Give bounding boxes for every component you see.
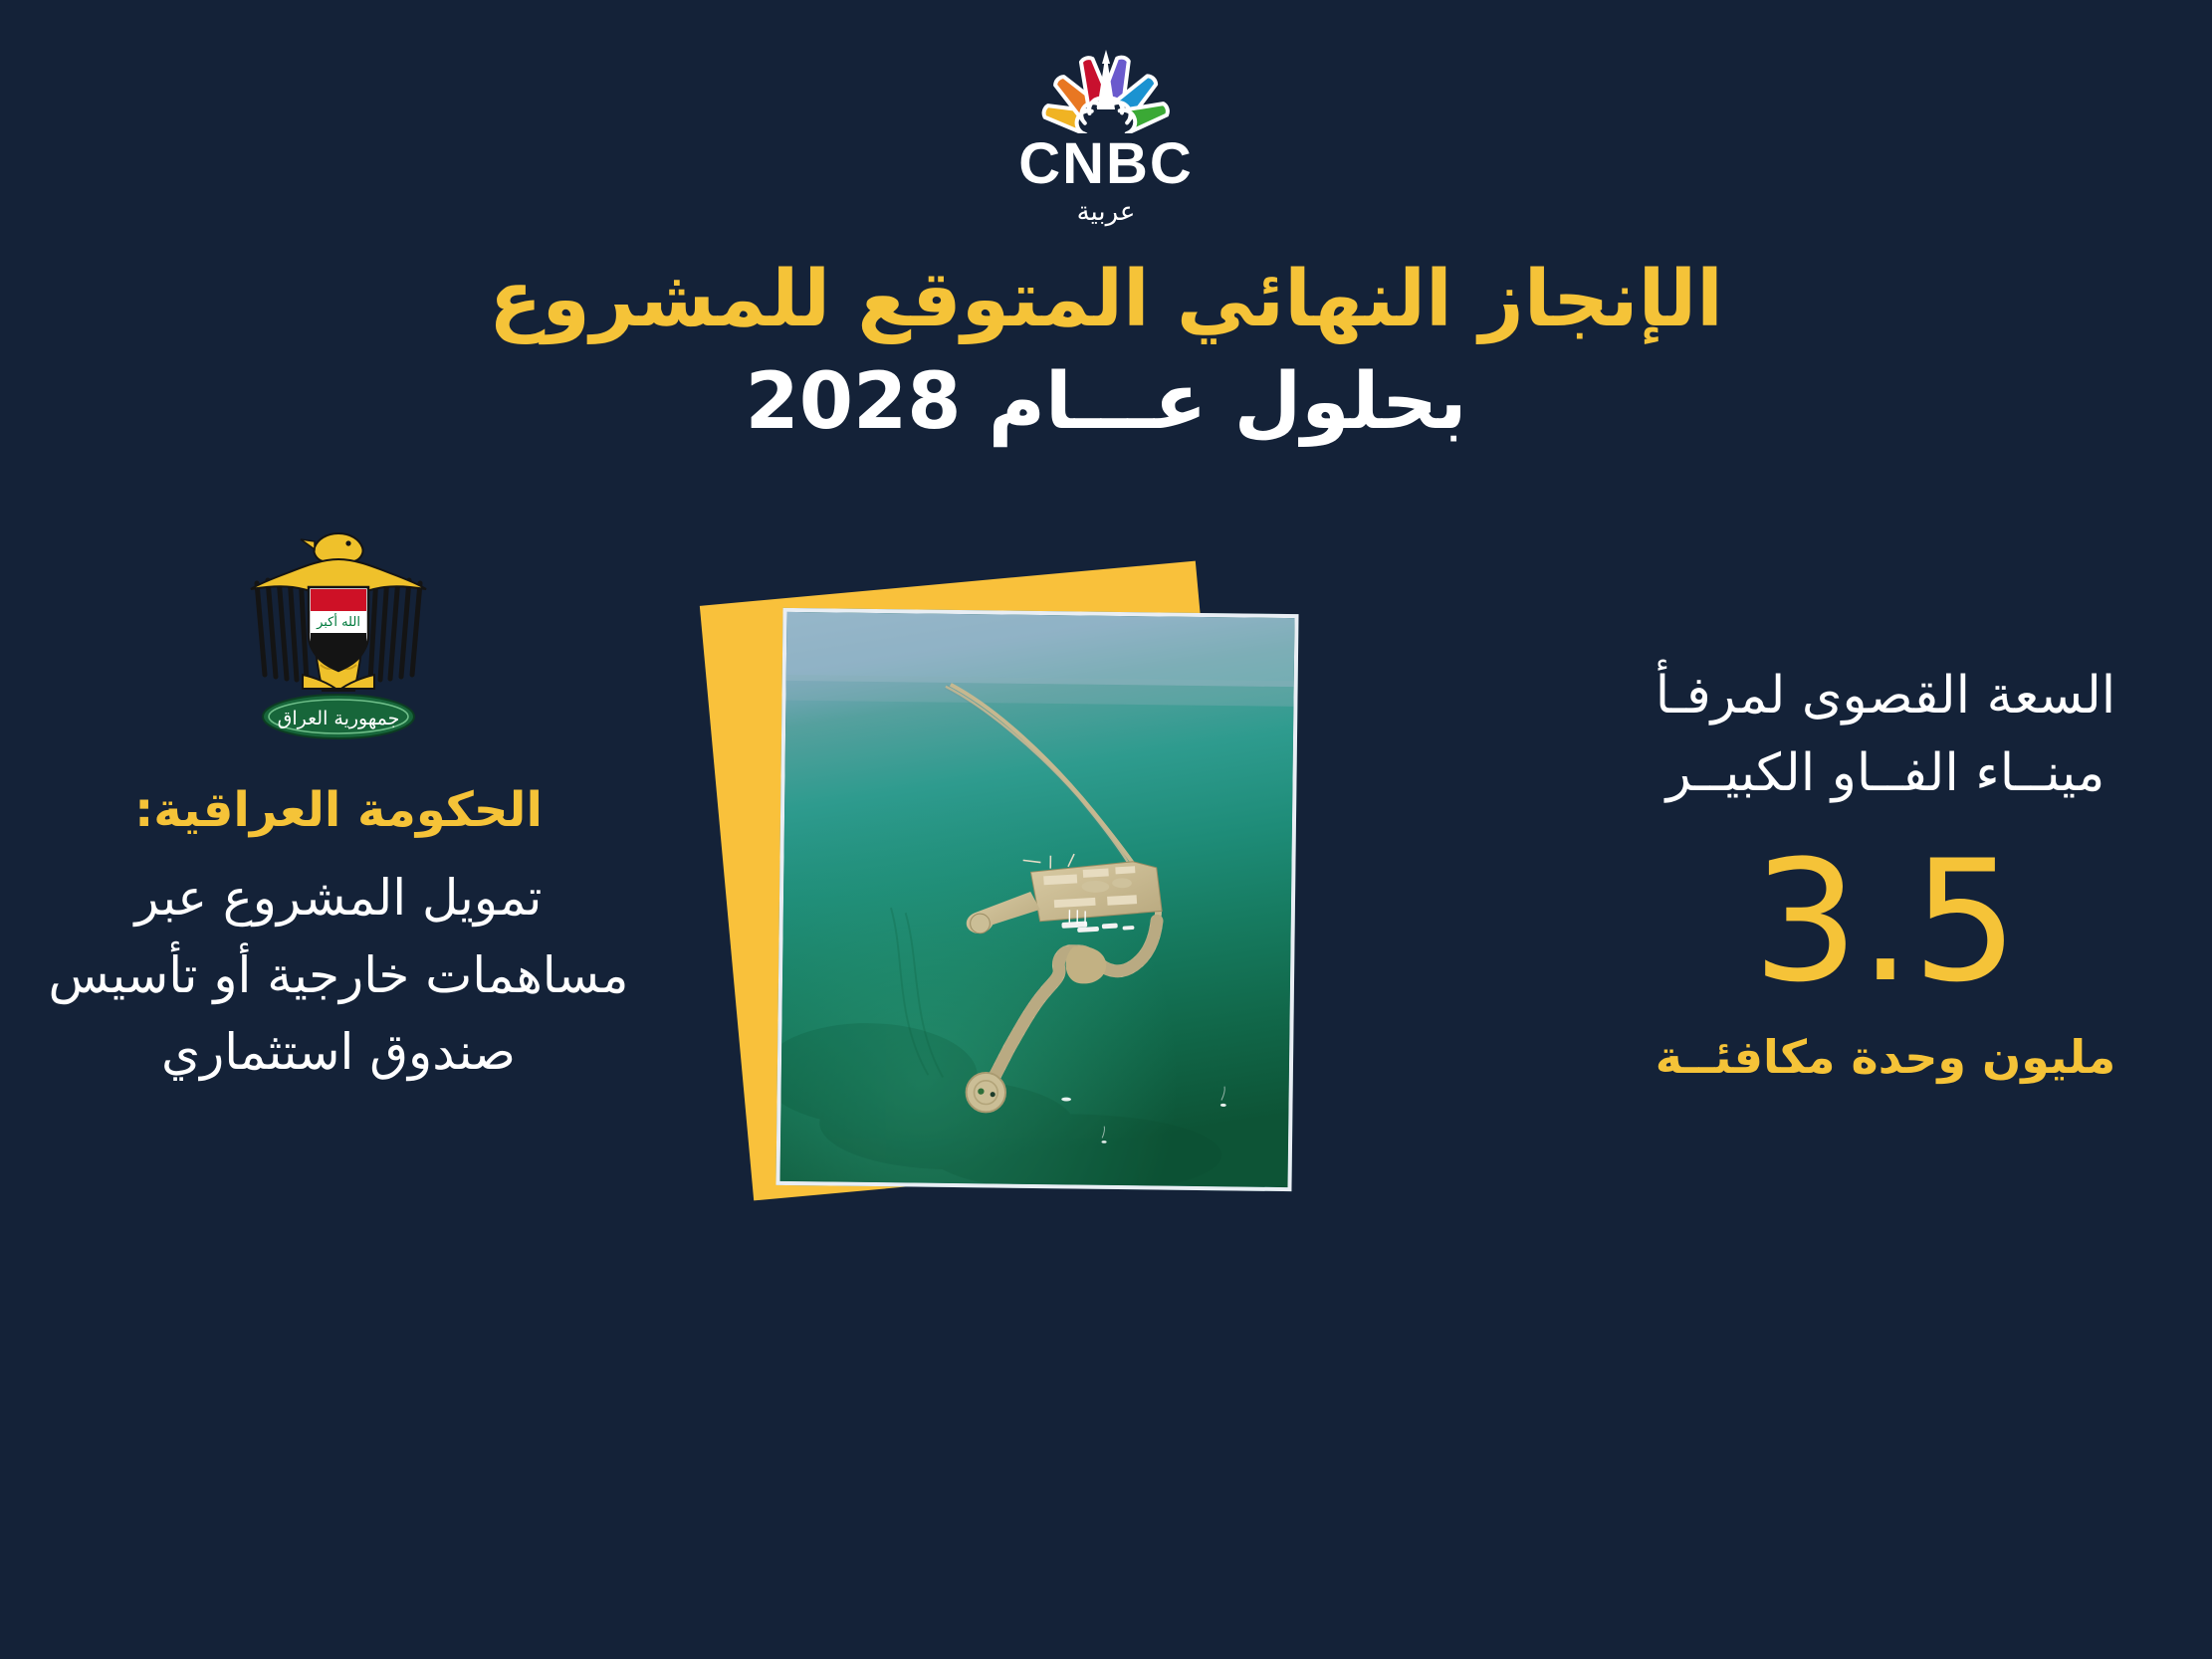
government-funding-block: الله أكبر جمهورية العراق الحكومة العراقي…: [20, 525, 657, 1092]
emblem-container: الله أكبر جمهورية العراق: [20, 525, 657, 742]
headline-line-2: بحلول عـــام 2028: [0, 351, 2212, 454]
headline: الإنجاز النهائي المتوقع للمشروع بحلول عـ…: [0, 249, 2212, 454]
cnbc-wordmark: CNBC: [1018, 135, 1194, 193]
emblem-shield-text: الله أكبر: [316, 613, 360, 630]
iraq-coat-of-arms-icon: الله أكبر جمهورية العراق: [235, 525, 442, 742]
emblem-scroll-text: جمهورية العراق: [278, 708, 400, 729]
capacity-label: السعة القصوى لمرفـأ مينــاء الفــاو الكب…: [1607, 657, 2164, 812]
cnbc-arabic-wordmark: عربية: [1077, 199, 1136, 225]
cnbc-arabia-logo: CNBC عربية: [957, 42, 1255, 225]
government-description: تمويل المشروع عبر مساهمات خارجية أو تأسي…: [20, 860, 657, 1092]
media-composition: [754, 597, 1271, 1194]
government-label: الحكومة العراقية:: [20, 780, 657, 840]
port-photo-frame: [775, 608, 1298, 1191]
capacity-unit: مليون وحدة مكافئــة: [1607, 1023, 2164, 1092]
cnbc-peacock-icon: [1021, 42, 1191, 133]
headline-line-1: الإنجاز النهائي المتوقع للمشروع: [0, 249, 2212, 351]
infographic-canvas: CNBC عربية الإنجاز النهائي المتوقع للمشر…: [0, 0, 2212, 1659]
capacity-stat-block: السعة القصوى لمرفـأ مينــاء الفــاو الكب…: [1607, 657, 2164, 1092]
aerial-port-photo: [780, 612, 1295, 1187]
capacity-value: 3.5: [1607, 838, 2164, 1005]
